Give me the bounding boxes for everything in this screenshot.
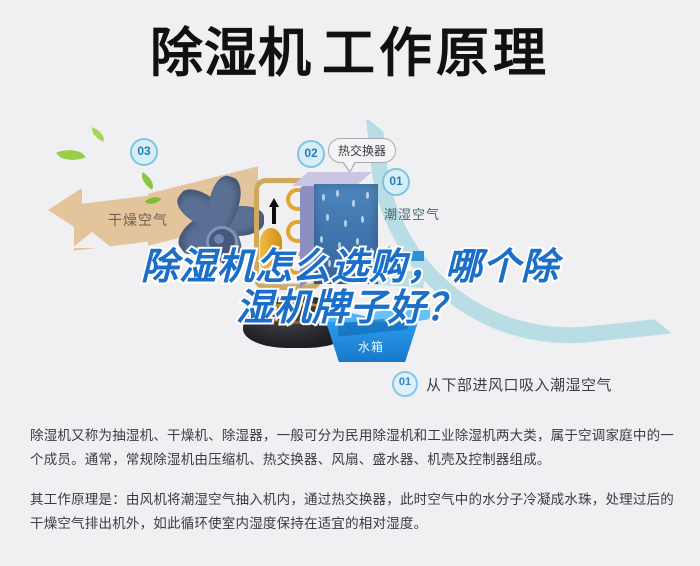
page-title-part1: 除湿机 <box>150 24 312 83</box>
moist-air-label: 潮湿空气 <box>384 204 440 223</box>
heat-exchanger-callout: 热交换器 <box>328 138 396 163</box>
dry-air-arrow-notch <box>72 232 112 248</box>
evaporator-face <box>314 184 378 284</box>
heat-exchanger-side <box>300 176 315 289</box>
dry-air-arrow-head <box>48 188 82 232</box>
infographic-page: 除湿机工作原理 干燥空气 潮湿空气 03 02 01 热交换器 <box>0 0 700 566</box>
leaf-icon <box>89 127 107 142</box>
arrow-stem <box>272 206 276 224</box>
diagram-pin-01: 01 <box>382 168 410 196</box>
arrow-up-icon <box>269 198 279 207</box>
dry-air-label: 干燥空气 <box>108 210 168 230</box>
step-item: 01 从下部进风口吸入潮湿空气 <box>392 373 692 395</box>
body-paragraph-2: 其工作原理是：由风机将潮湿空气抽入机内，通过热交换器，此时空气中的水分子冷凝成水… <box>30 488 674 536</box>
page-title-part2: 工作原理 <box>322 24 550 83</box>
step-number: 01 <box>392 371 418 397</box>
dehumidifier-diagram: 干燥空气 潮湿空气 03 02 01 热交换器 <box>0 120 700 400</box>
compressor-cylinder <box>260 228 282 274</box>
step-text: 从下部进风口吸入潮湿空气 <box>426 374 612 395</box>
fan-hub-center <box>214 234 224 244</box>
diagram-pin-02: 02 <box>297 140 325 168</box>
heat-exchanger-block <box>300 172 378 284</box>
water-tank-label: 水箱 <box>358 338 384 355</box>
page-title: 除湿机工作原理 <box>0 24 700 84</box>
body-paragraph-1: 除湿机又称为抽湿机、干燥机、除湿器，一般可分为民用除湿机和工业除湿机两大类，属于… <box>30 424 674 472</box>
water-tank: 水箱 <box>318 306 434 376</box>
step-list: 01 从下部进风口吸入潮湿空气 02 潮湿空气经过蒸发器冷凝成水珠 03 从上部… <box>392 373 692 400</box>
body-text: 除湿机又称为抽湿机、干燥机、除湿器，一般可分为民用除湿机和工业除湿机两大类，属于… <box>30 424 674 552</box>
air-intake-arrow-icon <box>378 248 424 264</box>
diagram-pin-03: 03 <box>130 138 158 166</box>
